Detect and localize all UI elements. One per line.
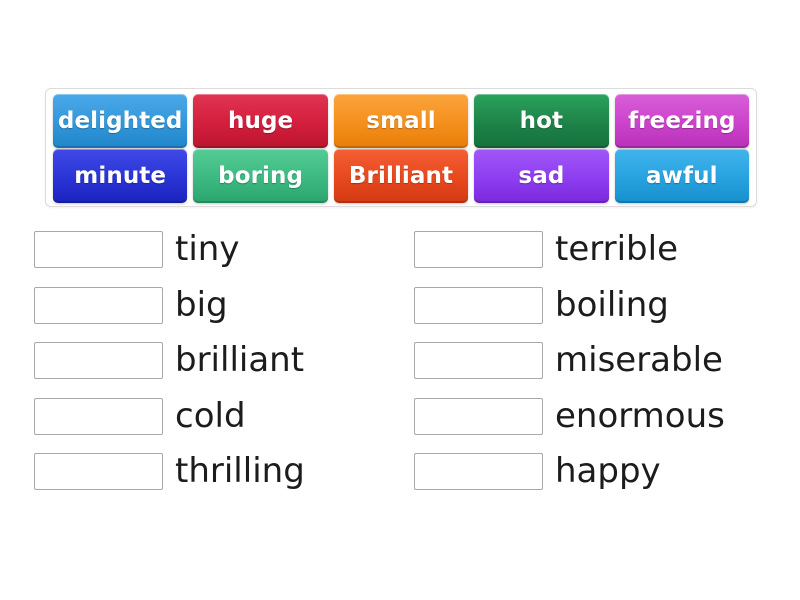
word-bank-panel: delighted huge small hot freezing minute…	[45, 88, 757, 207]
answer-label-miserable: miserable	[555, 342, 723, 379]
word-tile-brilliant[interactable]: Brilliant	[334, 149, 468, 203]
word-tile-label: minute	[74, 163, 166, 189]
answer-label-happy: happy	[555, 453, 661, 490]
word-tile-label: sad	[518, 163, 564, 189]
answer-row-miserable: miserable	[414, 342, 725, 379]
answer-label-enormous: enormous	[555, 398, 725, 435]
drop-slot-brilliant[interactable]	[34, 342, 163, 379]
word-tile-label: hot	[520, 108, 563, 134]
answer-row-happy: happy	[414, 453, 725, 490]
drop-slot-big[interactable]	[34, 287, 163, 324]
answer-row-thrilling: thrilling	[34, 453, 305, 490]
word-tile-label: awful	[646, 163, 718, 189]
answer-row-tiny: tiny	[34, 231, 305, 268]
answer-row-enormous: enormous	[414, 398, 725, 435]
word-tile-label: boring	[218, 163, 303, 189]
answer-row-terrible: terrible	[414, 231, 725, 268]
drop-slot-thrilling[interactable]	[34, 453, 163, 490]
answer-label-terrible: terrible	[555, 231, 678, 268]
drop-slot-cold[interactable]	[34, 398, 163, 435]
word-tile-minute[interactable]: minute	[53, 149, 187, 203]
answer-label-thrilling: thrilling	[175, 453, 305, 490]
word-tile-delighted[interactable]: delighted	[53, 94, 187, 148]
word-tile-awful[interactable]: awful	[615, 149, 749, 203]
answer-label-big: big	[175, 287, 228, 324]
answer-column-right: terrible boiling miserable enormous happ…	[414, 231, 725, 509]
answer-column-left: tiny big brilliant cold thrilling	[34, 231, 305, 509]
drop-slot-miserable[interactable]	[414, 342, 543, 379]
word-tile-hot[interactable]: hot	[474, 94, 608, 148]
answer-label-brilliant: brilliant	[175, 342, 304, 379]
drop-slot-enormous[interactable]	[414, 398, 543, 435]
word-tile-huge[interactable]: huge	[193, 94, 327, 148]
answer-label-cold: cold	[175, 398, 246, 435]
answer-row-cold: cold	[34, 398, 305, 435]
word-tile-boring[interactable]: boring	[193, 149, 327, 203]
word-tile-freezing[interactable]: freezing	[615, 94, 749, 148]
answer-row-brilliant: brilliant	[34, 342, 305, 379]
drop-slot-tiny[interactable]	[34, 231, 163, 268]
word-tile-label: delighted	[58, 108, 183, 134]
word-tile-label: Brilliant	[349, 163, 453, 189]
word-bank-row-2: minute boring Brilliant sad awful	[50, 149, 752, 203]
answer-row-boiling: boiling	[414, 287, 725, 324]
word-tile-label: small	[366, 108, 435, 134]
word-tile-label: freezing	[628, 108, 735, 134]
drop-slot-happy[interactable]	[414, 453, 543, 490]
word-bank-row-1: delighted huge small hot freezing	[50, 94, 752, 148]
answer-label-tiny: tiny	[175, 231, 239, 268]
answer-label-boiling: boiling	[555, 287, 669, 324]
word-tile-small[interactable]: small	[334, 94, 468, 148]
word-tile-sad[interactable]: sad	[474, 149, 608, 203]
answer-row-big: big	[34, 287, 305, 324]
word-tile-label: huge	[228, 108, 293, 134]
drop-slot-terrible[interactable]	[414, 231, 543, 268]
drop-slot-boiling[interactable]	[414, 287, 543, 324]
